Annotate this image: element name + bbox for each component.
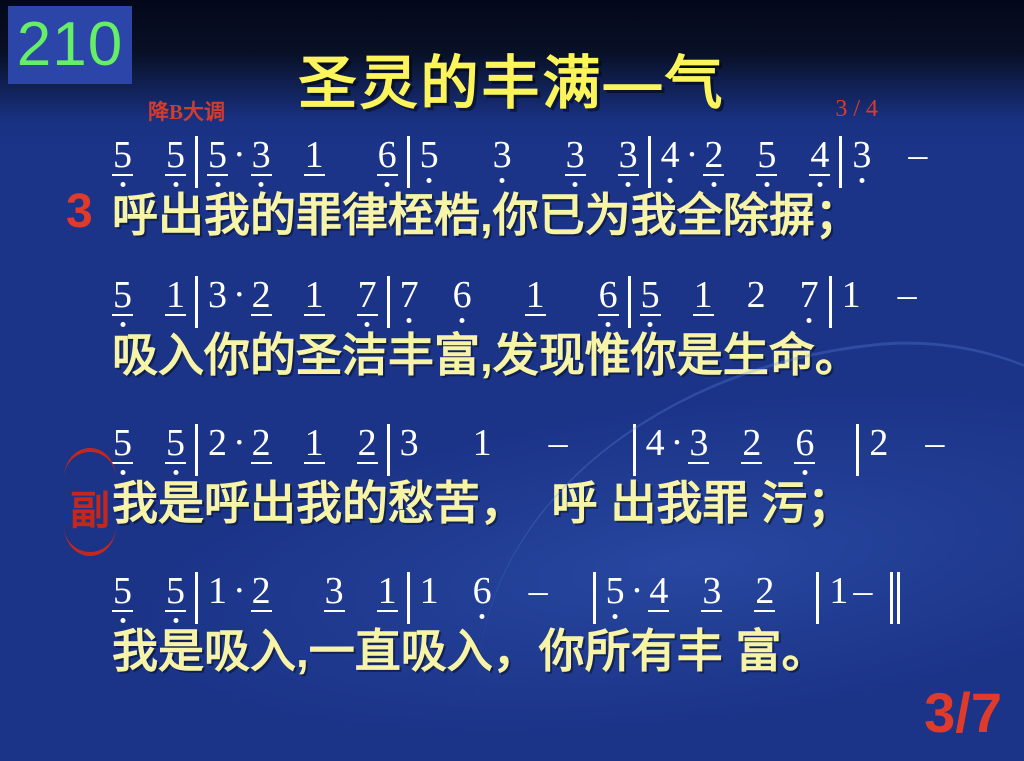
note-number: 5 bbox=[165, 424, 186, 464]
lyrics-line: 吸入你的圣洁丰富,发现惟你是生命。 bbox=[0, 332, 1024, 380]
note-number: 1 bbox=[472, 424, 493, 462]
duration-dot: · bbox=[228, 424, 251, 462]
note-number: 5 bbox=[207, 136, 228, 176]
low-octave-dot bbox=[606, 322, 611, 327]
note-number: 1 bbox=[207, 572, 228, 610]
final-barline bbox=[890, 572, 904, 624]
note-number: 3 bbox=[492, 136, 513, 174]
jianpu-note: 4 bbox=[660, 136, 681, 174]
note-number: 5 bbox=[605, 572, 626, 610]
jianpu-note: 3 bbox=[618, 136, 639, 176]
note-number: 4 bbox=[648, 572, 669, 612]
note-number: 1 bbox=[304, 276, 325, 316]
duration-dot: · bbox=[228, 136, 251, 174]
jianpu-note: 1 bbox=[304, 276, 325, 316]
note-number: 3 bbox=[701, 572, 722, 612]
jianpu-note: 5 bbox=[165, 424, 186, 464]
note-number: 2 bbox=[251, 424, 272, 464]
jianpu-note: 5 bbox=[207, 136, 228, 176]
music-system-2: 513·217761651271– 吸入你的圣洁丰富,发现惟你是生命。 bbox=[0, 276, 1024, 380]
low-octave-dot bbox=[215, 182, 220, 187]
jianpu-note: 1 bbox=[304, 136, 325, 176]
note-number: 5 bbox=[419, 136, 440, 174]
jianpu-note: 1 bbox=[841, 276, 862, 314]
jianpu-note: 2 bbox=[251, 572, 272, 612]
low-octave-dot bbox=[259, 182, 264, 187]
note-number: 1 bbox=[419, 572, 440, 610]
note-number: 5 bbox=[165, 572, 186, 612]
jianpu-note: 3 bbox=[324, 572, 345, 612]
note-number: 2 bbox=[251, 276, 272, 316]
jianpu-note: 6 bbox=[598, 276, 619, 316]
notation-row: 513·217761651271– bbox=[0, 276, 1024, 332]
low-octave-dot bbox=[427, 178, 432, 183]
note-number: 2 bbox=[207, 424, 228, 462]
lyrics-line: 呼出我的罪律桎梏,你已为我全除摒； bbox=[0, 192, 1024, 240]
duration-dash: – bbox=[921, 424, 948, 462]
jianpu-note: 1 bbox=[472, 424, 493, 462]
barline bbox=[407, 572, 410, 624]
low-octave-dot bbox=[500, 178, 505, 183]
jianpu-note: 3 bbox=[688, 424, 709, 464]
low-octave-dot bbox=[613, 614, 618, 619]
lyrics-line: 我是呼出我的愁苦， 呼 出我罪 污； bbox=[0, 480, 1024, 528]
chorus-paren-bottom-icon bbox=[64, 526, 116, 556]
jianpu-note: 1 bbox=[377, 572, 398, 612]
note-number: 2 bbox=[868, 424, 889, 462]
note-number: 5 bbox=[756, 136, 777, 176]
jianpu-note: 5 bbox=[165, 136, 186, 176]
low-octave-dot bbox=[807, 318, 812, 323]
barline bbox=[195, 276, 198, 328]
note-number: 4 bbox=[809, 136, 830, 176]
barline bbox=[195, 572, 198, 624]
lyrics-line: 我是吸入,一直吸入，你所有丰 富。 bbox=[0, 628, 1024, 676]
low-octave-dot bbox=[711, 182, 716, 187]
note-number: 4 bbox=[645, 424, 666, 462]
chorus-marker: 副 bbox=[62, 448, 118, 556]
note-number: 3 bbox=[207, 276, 228, 314]
jianpu-note: 1 bbox=[304, 424, 325, 464]
note-number: 6 bbox=[377, 136, 398, 176]
barline bbox=[829, 276, 832, 328]
jianpu-note: 2 bbox=[741, 424, 762, 464]
note-number: 3 bbox=[688, 424, 709, 464]
barline bbox=[839, 136, 842, 188]
music-system-4: 551·23116–5·4321– 我是吸入,一直吸入，你所有丰 富。 bbox=[0, 572, 1024, 676]
barline bbox=[816, 572, 819, 624]
low-octave-dot bbox=[764, 182, 769, 187]
note-number: 2 bbox=[754, 572, 775, 612]
jianpu-note: 3 bbox=[251, 136, 272, 176]
notation-row: 551·23116–5·4321– bbox=[0, 572, 1024, 628]
duration-dash: – bbox=[849, 572, 876, 610]
note-number: 3 bbox=[251, 136, 272, 176]
note-number: 7 bbox=[799, 276, 820, 314]
low-octave-dot bbox=[626, 182, 631, 187]
duration-dash: – bbox=[894, 276, 921, 314]
key-signature: 降B大调 bbox=[148, 96, 225, 126]
barline bbox=[628, 276, 631, 328]
jianpu-note: 3 bbox=[207, 276, 228, 314]
jianpu-note: 1 bbox=[419, 572, 440, 610]
duration-dot: · bbox=[681, 136, 704, 174]
low-octave-dot bbox=[120, 618, 125, 623]
chorus-paren-top-icon bbox=[64, 448, 116, 478]
low-octave-dot bbox=[385, 182, 390, 187]
jianpu-note: 2 bbox=[251, 424, 272, 464]
note-number: 2 bbox=[741, 424, 762, 464]
hymn-number-box: 210 bbox=[8, 6, 132, 84]
low-octave-dot bbox=[802, 470, 807, 475]
barline bbox=[195, 136, 198, 188]
note-number: 1 bbox=[828, 572, 849, 610]
jianpu-note: 2 bbox=[868, 424, 889, 462]
low-octave-dot bbox=[173, 470, 178, 475]
low-octave-dot bbox=[648, 322, 653, 327]
barline bbox=[387, 276, 390, 328]
jianpu-note: 5 bbox=[756, 136, 777, 176]
duration-dash: – bbox=[525, 572, 552, 610]
duration-dot: · bbox=[666, 424, 689, 462]
jianpu-note: 3 bbox=[701, 572, 722, 612]
note-number: 5 bbox=[112, 136, 133, 176]
jianpu-note: 6 bbox=[472, 572, 493, 610]
note-number: 5 bbox=[112, 572, 133, 612]
jianpu-note: 1 bbox=[828, 572, 849, 610]
barline bbox=[407, 136, 410, 188]
barline bbox=[856, 424, 859, 476]
verse-number: 3 bbox=[66, 184, 93, 239]
jianpu-note: 5 bbox=[640, 276, 661, 316]
note-number: 3 bbox=[851, 136, 872, 174]
low-octave-dot bbox=[668, 178, 673, 183]
jianpu-note: 3 bbox=[851, 136, 872, 174]
jianpu-note: 2 bbox=[251, 276, 272, 316]
low-octave-dot bbox=[817, 182, 822, 187]
note-number: 2 bbox=[251, 572, 272, 612]
duration-dash: – bbox=[545, 424, 572, 462]
jianpu-note: 3 bbox=[399, 424, 420, 462]
jianpu-note: 7 bbox=[799, 276, 820, 314]
note-number: 3 bbox=[565, 136, 586, 176]
jianpu-note: 1 bbox=[207, 572, 228, 610]
jianpu-note: 5 bbox=[165, 572, 186, 612]
jianpu-note: 5 bbox=[605, 572, 626, 610]
jianpu-note: 2 bbox=[207, 424, 228, 462]
jianpu-note: 7 bbox=[357, 276, 378, 316]
jianpu-note: 1 bbox=[165, 276, 186, 316]
jianpu-note: 5 bbox=[419, 136, 440, 174]
note-number: 2 bbox=[703, 136, 724, 176]
hymn-slide: 210 降B大调 圣灵的丰满—气 3 / 4 3 副 555·31653334·… bbox=[0, 0, 1024, 761]
jianpu-note: 2 bbox=[703, 136, 724, 176]
low-octave-dot bbox=[120, 470, 125, 475]
jianpu-note: 1 bbox=[525, 276, 546, 316]
low-octave-dot bbox=[859, 178, 864, 183]
notation-row: 555·31653334·2543– bbox=[0, 136, 1024, 192]
jianpu-note: 4 bbox=[648, 572, 669, 612]
note-number: 2 bbox=[357, 424, 378, 464]
duration-dot: · bbox=[228, 572, 251, 610]
jianpu-note: 1 bbox=[693, 276, 714, 316]
low-octave-dot bbox=[573, 182, 578, 187]
jianpu-note: 4 bbox=[645, 424, 666, 462]
jianpu-note: 5 bbox=[112, 572, 133, 612]
note-number: 1 bbox=[304, 136, 325, 176]
barline bbox=[593, 572, 596, 624]
note-number: 5 bbox=[640, 276, 661, 316]
duration-dash: – bbox=[904, 136, 931, 174]
low-octave-dot bbox=[460, 318, 465, 323]
jianpu-note: 2 bbox=[746, 276, 767, 314]
note-number: 1 bbox=[841, 276, 862, 314]
music-system-3: 552·21231–4·3262– 我是呼出我的愁苦， 呼 出我罪 污； bbox=[0, 424, 1024, 528]
low-octave-dot bbox=[173, 618, 178, 623]
note-number: 1 bbox=[525, 276, 546, 316]
barline bbox=[648, 136, 651, 188]
note-number: 5 bbox=[112, 276, 133, 316]
note-number: 7 bbox=[357, 276, 378, 316]
duration-dot: · bbox=[228, 276, 251, 314]
low-octave-dot bbox=[120, 322, 125, 327]
barline bbox=[195, 424, 198, 476]
note-number: 6 bbox=[794, 424, 815, 464]
jianpu-note: 3 bbox=[492, 136, 513, 174]
jianpu-note: 2 bbox=[754, 572, 775, 612]
low-octave-dot bbox=[120, 182, 125, 187]
jianpu-note: 4 bbox=[809, 136, 830, 176]
time-signature: 3 / 4 bbox=[835, 96, 878, 123]
notation-row: 552·21231–4·3262– bbox=[0, 424, 1024, 480]
jianpu-note: 5 bbox=[112, 136, 133, 176]
note-number: 1 bbox=[377, 572, 398, 612]
barline bbox=[633, 424, 636, 476]
jianpu-note: 2 bbox=[357, 424, 378, 464]
note-number: 6 bbox=[452, 276, 473, 314]
jianpu-note: 7 bbox=[399, 276, 420, 314]
low-octave-dot bbox=[365, 322, 370, 327]
barline bbox=[387, 424, 390, 476]
jianpu-note: 6 bbox=[452, 276, 473, 314]
note-number: 1 bbox=[304, 424, 325, 464]
note-number: 2 bbox=[746, 276, 767, 314]
jianpu-note: 3 bbox=[565, 136, 586, 176]
jianpu-note: 6 bbox=[377, 136, 398, 176]
music-system-1: 555·31653334·2543– 呼出我的罪律桎梏,你已为我全除摒； bbox=[0, 136, 1024, 240]
note-number: 3 bbox=[324, 572, 345, 612]
hymn-number: 210 bbox=[17, 14, 123, 76]
note-number: 6 bbox=[598, 276, 619, 316]
jianpu-note: 5 bbox=[112, 276, 133, 316]
jianpu-note: 6 bbox=[794, 424, 815, 464]
low-octave-dot bbox=[480, 614, 485, 619]
low-octave-dot bbox=[173, 182, 178, 187]
low-octave-dot bbox=[407, 318, 412, 323]
note-number: 3 bbox=[618, 136, 639, 176]
note-number: 5 bbox=[165, 136, 186, 176]
note-number: 1 bbox=[165, 276, 186, 316]
note-number: 3 bbox=[399, 424, 420, 462]
note-number: 6 bbox=[472, 572, 493, 610]
duration-dot: · bbox=[626, 572, 649, 610]
note-number: 1 bbox=[693, 276, 714, 316]
page-number: 3/7 bbox=[924, 680, 1002, 745]
note-number: 4 bbox=[660, 136, 681, 174]
note-number: 7 bbox=[399, 276, 420, 314]
